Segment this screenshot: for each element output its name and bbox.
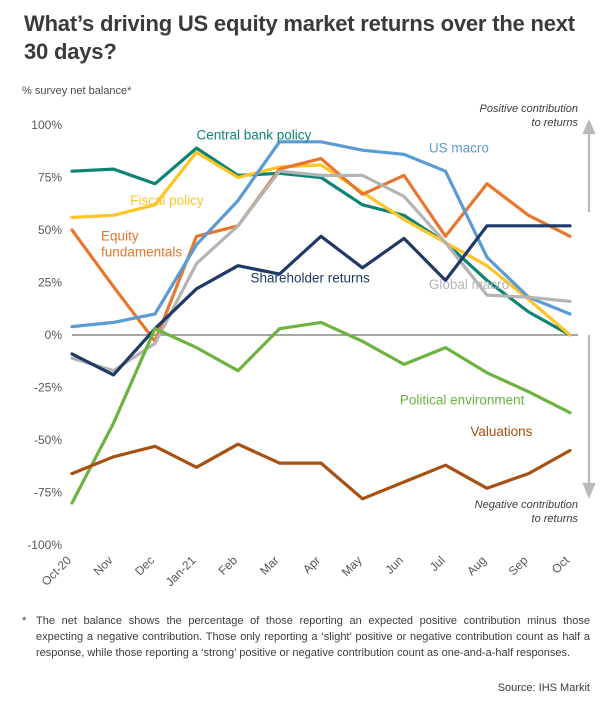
x-axis-tick-label: Mar — [257, 553, 282, 578]
footnote: * The net balance shows the percentage o… — [22, 614, 590, 662]
footnote-divider — [22, 604, 590, 605]
x-axis-tick-label: Apr — [300, 553, 323, 576]
x-axis-tick-label: Sep — [506, 553, 531, 578]
up-arrow-icon — [584, 122, 594, 212]
y-axis-tick-label: -75% — [34, 486, 62, 500]
y-axis-tick-label: 75% — [38, 171, 62, 185]
series-line-us-macro — [72, 142, 570, 327]
series-label-equity-fundamentals: Equity — [101, 229, 139, 244]
x-axis-tick-label: Nov — [91, 553, 116, 578]
x-axis-tick-label: Oct-20 — [39, 553, 75, 589]
x-axis-tick-label: Dec — [132, 553, 157, 578]
source-label: Source: IHS Markit — [498, 682, 590, 694]
y-axis-tick-label: 100% — [31, 118, 62, 132]
footnote-marker: * — [22, 614, 26, 630]
series-label-us-macro: US macro — [429, 140, 489, 155]
down-arrow-icon — [584, 335, 594, 496]
x-axis-tick-label: Oct — [549, 553, 573, 577]
series-label-political-environment: Political environment — [400, 392, 525, 407]
x-axis-tick-label: Aug — [464, 553, 489, 578]
x-axis-tick-label: Jul — [427, 553, 448, 574]
series-line-political-environment — [72, 322, 570, 503]
y-axis-tick-label: -100% — [27, 538, 62, 552]
y-axis-tick-label: 50% — [38, 223, 62, 237]
x-axis-tick-label: Jun — [383, 553, 407, 577]
footnote-text: The net balance shows the percentage of … — [36, 614, 590, 662]
line-chart: 100%75%50%25%0%-25%-50%-75%-100% Oct-20N… — [0, 100, 612, 605]
positive-contribution-annotation: to returns — [532, 117, 579, 129]
y-axis-tick-label: 0% — [45, 328, 63, 342]
y-axis-tick-label: -25% — [34, 381, 62, 395]
series-label-global-macro: Global macro — [429, 277, 509, 292]
negative-contribution-annotation: Negative contribution — [475, 499, 578, 511]
y-axis-ticks: 100%75%50%25%0%-25%-50%-75%-100% — [27, 118, 62, 552]
positive-contribution-annotation: Positive contribution — [480, 103, 578, 115]
chart-container: 100%75%50%25%0%-25%-50%-75%-100% Oct-20N… — [0, 100, 612, 605]
y-axis-unit-label: % survey net balance* — [22, 85, 131, 97]
x-axis-tick-label: Jan-21 — [163, 553, 199, 589]
page-title: What’s driving US equity market returns … — [24, 10, 584, 66]
series-label-central-bank-policy: Central bank policy — [197, 128, 312, 143]
series-line-valuations — [72, 444, 570, 499]
series-label-shareholder-returns: Shareholder returns — [250, 271, 370, 286]
negative-contribution-annotation: to returns — [532, 513, 579, 525]
series-label-fiscal-policy: Fiscal policy — [130, 193, 204, 208]
x-axis-tick-label: Feb — [216, 553, 241, 578]
x-axis-tick-label: May — [339, 553, 365, 579]
series-label-valuations: Valuations — [470, 424, 532, 439]
x-axis-ticks: Oct-20NovDecJan-21FebMarAprMayJunJulAugS… — [39, 553, 573, 589]
series-label-equity-fundamentals: fundamentals — [101, 245, 182, 260]
y-axis-tick-label: 25% — [38, 276, 62, 290]
y-axis-tick-label: -50% — [34, 433, 62, 447]
